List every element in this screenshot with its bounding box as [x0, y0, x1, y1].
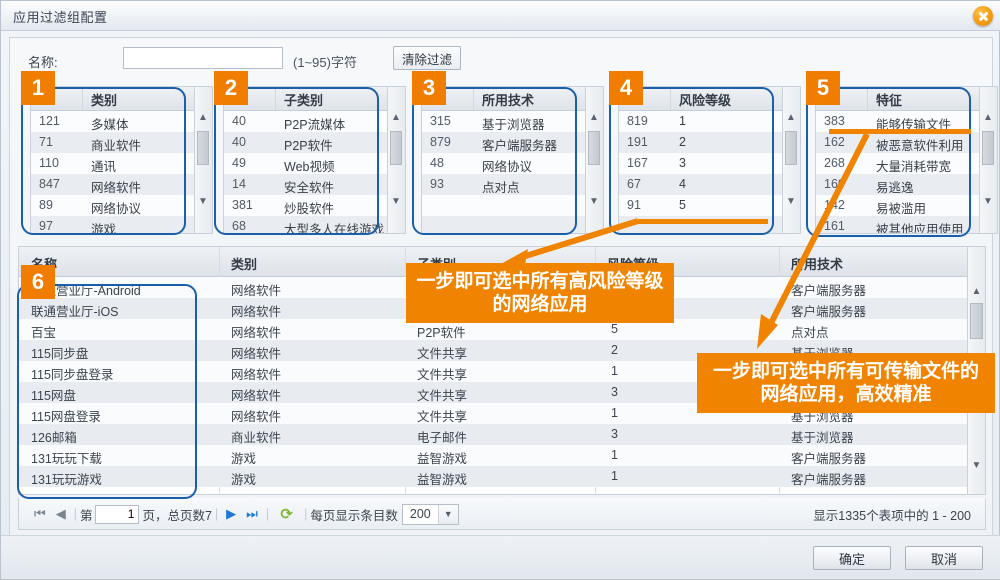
badge-2: 2 — [214, 71, 248, 105]
item-count: 161 — [824, 219, 868, 233]
cell-risk: 1 — [611, 406, 618, 420]
item-label: 游戏 — [91, 219, 116, 234]
cell-category: 网络软件 — [231, 385, 281, 404]
selector-header-1: 类别 — [31, 87, 194, 111]
item-count: 383 — [824, 114, 868, 128]
item-label: 网络协议 — [91, 198, 141, 217]
item-label: 1 — [679, 114, 686, 128]
badge-1: 1 — [21, 71, 55, 105]
selector-scrollbar-3[interactable]: ▲▼ — [586, 86, 604, 234]
selector-list-1[interactable]: 121多媒体71商业软件110通讯847网络软件89网络协议97游戏 — [31, 111, 194, 234]
item-label: 通讯 — [91, 156, 116, 175]
list-item[interactable]: 71商业软件 — [31, 132, 194, 153]
badge-5: 5 — [806, 71, 840, 105]
list-item[interactable]: 268大量消耗带宽 — [816, 153, 979, 174]
cell-subcategory: P2P软件 — [417, 322, 466, 341]
selector-header-3: 所用技术 — [422, 87, 585, 111]
close-icon[interactable] — [973, 6, 993, 26]
scroll-up-icon[interactable]: ▲ — [980, 109, 996, 125]
scroll-up-icon[interactable]: ▲ — [783, 109, 799, 125]
list-item[interactable]: 121多媒体 — [31, 111, 194, 132]
window-title: 应用过滤组配置 — [13, 7, 108, 26]
badge-4: 4 — [609, 71, 643, 105]
list-item[interactable]: 8191 — [619, 111, 782, 132]
item-count: 91 — [627, 198, 671, 212]
cell-risk: 3 — [611, 427, 618, 441]
scrollbar-thumb[interactable] — [588, 131, 600, 165]
cell-name: 联通营业厅-iOS — [31, 301, 119, 320]
first-page-icon[interactable]: ⏮ — [29, 506, 51, 522]
list-item[interactable] — [422, 195, 585, 216]
list-item[interactable]: 674 — [619, 174, 782, 195]
item-label: 多媒体 — [91, 114, 129, 133]
item-count: 89 — [39, 198, 83, 212]
chevron-down-icon[interactable]: ▼ — [438, 505, 458, 524]
scroll-down-icon[interactable]: ▼ — [195, 193, 211, 209]
scroll-up-icon[interactable]: ▲ — [586, 109, 602, 125]
cell-category: 网络软件 — [231, 343, 281, 362]
item-label: P2P软件 — [284, 135, 333, 154]
list-item[interactable]: 1673 — [619, 153, 782, 174]
cell-category: 网络软件 — [231, 322, 281, 341]
item-label: Web视频 — [284, 156, 334, 175]
name-input[interactable] — [123, 47, 283, 69]
list-item[interactable]: 89网络协议 — [31, 195, 194, 216]
selector-title: 子类别 — [284, 90, 323, 109]
item-count: 847 — [39, 177, 83, 191]
scroll-down-icon[interactable]: ▼ — [586, 193, 602, 209]
per-page-value: 200 — [403, 507, 438, 521]
column-header-tech[interactable]: 所用技术 — [791, 254, 843, 273]
item-label: 5 — [679, 198, 686, 212]
list-item[interactable]: 49Web视频 — [224, 153, 387, 174]
callout-feature: 一步即可选中所有可传输文件的网络应用，高效精准 — [697, 353, 995, 413]
selector-scrollbar-1[interactable]: ▲▼ — [195, 86, 213, 234]
cell-subcategory: 文件共享 — [417, 385, 467, 404]
item-label: 被其他应用使用 — [876, 219, 964, 234]
scroll-down-icon[interactable]: ▼ — [968, 457, 985, 474]
item-count: 162 — [824, 135, 868, 149]
last-page-icon[interactable]: ⏭ — [241, 506, 263, 522]
cell-risk: 2 — [611, 343, 618, 357]
cell-risk: 1 — [611, 469, 618, 483]
item-count: 142 — [824, 198, 868, 212]
selector-title: 特征 — [876, 90, 902, 109]
table-row[interactable]: 131玩玩下载游戏益智游戏1客户端服务器 — [19, 445, 985, 466]
cell-subcategory: 文件共享 — [417, 343, 467, 362]
item-count: 160 — [824, 177, 868, 191]
cell-category: 商业软件 — [231, 427, 281, 446]
item-label: 炒股软件 — [284, 198, 334, 217]
item-count: 93 — [430, 177, 474, 191]
cell-subcategory: 益智游戏 — [417, 448, 467, 467]
highlight-underline-feature-1 — [829, 129, 971, 134]
cell-tech: 客户端服务器 — [791, 280, 866, 299]
item-count: 97 — [39, 219, 83, 233]
previous-page-icon[interactable]: ◀ — [51, 506, 71, 522]
selector-panel-1: 类别121多媒体71商业软件110通讯847网络软件89网络协议97游戏 — [30, 86, 195, 234]
cell-category: 网络软件 — [231, 364, 281, 383]
selector-panel-4: 风险等级819119121673674915 — [618, 86, 783, 234]
cell-risk: 1 — [611, 364, 618, 378]
per-page-label: 每页显示条目数 — [310, 505, 398, 524]
selector-header-2: 子类别 — [224, 87, 387, 111]
refresh-icon[interactable]: ⟳ — [278, 506, 295, 523]
cell-tech: 客户端服务器 — [791, 469, 866, 488]
list-item[interactable]: 93点对点 — [422, 174, 585, 195]
column-header-category[interactable]: 类别 — [231, 254, 257, 273]
selector-panel-3: 所用技术315基于浏览器879客户端服务器48网络协议93点对点 — [421, 86, 586, 234]
selector-header-5: 特征 — [816, 87, 979, 111]
item-count: 40 — [232, 135, 276, 149]
scrollbar-thumb[interactable] — [785, 131, 797, 165]
item-label: 网络软件 — [91, 177, 141, 196]
cell-category: 网络软件 — [231, 406, 281, 425]
item-count: 48 — [430, 156, 474, 170]
ok-button[interactable]: 确定 — [813, 546, 891, 570]
page-prefix-label: 第 — [80, 505, 93, 524]
item-label: 商业软件 — [91, 135, 141, 154]
page-number-input[interactable] — [95, 505, 139, 524]
cell-subcategory: 文件共享 — [417, 364, 467, 383]
list-item[interactable]: 160易逃逸 — [816, 174, 979, 195]
item-count: 819 — [627, 114, 671, 128]
cell-risk: 3 — [611, 385, 618, 399]
badge-3: 3 — [412, 71, 446, 105]
highlight-underline-risk-5 — [638, 219, 768, 224]
list-item[interactable]: 68大型多人在线游戏 — [224, 216, 387, 234]
list-item[interactable]: 879客户端服务器 — [422, 132, 585, 153]
selector-header-4: 风险等级 — [619, 87, 782, 111]
cell-category: 网络软件 — [231, 280, 281, 299]
record-status-label: 显示1335个表项中的 1 - 200 — [813, 498, 971, 530]
item-count: 315 — [430, 114, 474, 128]
list-item[interactable]: 97游戏 — [31, 216, 194, 234]
item-label: 大型多人在线游戏 — [284, 219, 384, 234]
per-page-select[interactable]: 200 ▼ — [402, 504, 459, 525]
pagination-bar: ⏮ ◀ | 第 页，总页数7 | ▶ ⏭ | ⟳ | 每页显示条目数 200 ▼… — [18, 498, 986, 530]
item-count: 40 — [232, 114, 276, 128]
selector-list-2[interactable]: 40P2P流媒体40P2P软件49Web视频14安全软件381炒股软件68大型多… — [224, 111, 387, 234]
list-item[interactable]: 142易被滥用 — [816, 195, 979, 216]
cell-risk: 1 — [611, 448, 618, 462]
scroll-down-icon[interactable]: ▼ — [980, 193, 996, 209]
list-item[interactable]: 915 — [619, 195, 782, 216]
callout-risk: 一步即可选中所有高风险等级的网络应用 — [406, 263, 674, 323]
item-count: 14 — [232, 177, 276, 191]
item-count: 49 — [232, 156, 276, 170]
item-label: 易逃逸 — [876, 177, 914, 196]
item-count: 167 — [627, 156, 671, 170]
name-label: 名称: — [28, 52, 58, 71]
scroll-down-icon[interactable]: ▼ — [388, 193, 404, 209]
list-item[interactable]: 48网络协议 — [422, 153, 585, 174]
item-count: 68 — [232, 219, 276, 233]
list-item[interactable]: 381炒股软件 — [224, 195, 387, 216]
item-label: 大量消耗带宽 — [876, 156, 951, 175]
item-count: 67 — [627, 177, 671, 191]
title-bar: 应用过滤组配置 — [1, 1, 1000, 31]
cell-subcategory: 电子邮件 — [417, 427, 467, 446]
cell-category: 游戏 — [231, 469, 256, 488]
selector-list-4[interactable]: 819119121673674915 — [619, 111, 782, 234]
list-item[interactable] — [422, 216, 585, 234]
selector-panel-2: 子类别40P2P流媒体40P2P软件49Web视频14安全软件381炒股软件68… — [223, 86, 388, 234]
item-label: 点对点 — [482, 177, 520, 196]
char-hint-label: (1~95)字符 — [293, 52, 357, 71]
clear-filter-button[interactable]: 清除过滤 — [393, 46, 461, 70]
item-count: 191 — [627, 135, 671, 149]
list-item[interactable]: 1912 — [619, 132, 782, 153]
cell-tech: 点对点 — [791, 322, 829, 341]
scroll-up-icon[interactable]: ▲ — [968, 283, 985, 300]
page-suffix-label: 页，总页数7 — [142, 505, 211, 524]
list-item[interactable]: 40P2P软件 — [224, 132, 387, 153]
list-item[interactable]: 40P2P流媒体 — [224, 111, 387, 132]
cell-name: 115网盘 — [31, 385, 76, 404]
scroll-down-icon[interactable]: ▼ — [783, 193, 799, 209]
cancel-button[interactable]: 取消 — [905, 546, 983, 570]
scrollbar-thumb[interactable] — [197, 131, 209, 165]
table-row[interactable]: 126邮箱商业软件电子邮件3基于浏览器 — [19, 424, 985, 445]
cell-name: 131玩玩游戏 — [31, 469, 102, 488]
item-label: P2P流媒体 — [284, 114, 345, 133]
item-label: 网络协议 — [482, 156, 532, 175]
list-item[interactable]: 162被恶意软件利用 — [816, 132, 979, 153]
list-item[interactable]: 14安全软件 — [224, 174, 387, 195]
item-count: 121 — [39, 114, 83, 128]
list-item[interactable]: 847网络软件 — [31, 174, 194, 195]
scrollbar-thumb[interactable] — [390, 131, 402, 165]
list-item[interactable]: 110通讯 — [31, 153, 194, 174]
scrollbar-thumb[interactable] — [982, 131, 994, 165]
scroll-up-icon[interactable]: ▲ — [195, 109, 211, 125]
selector-title: 风险等级 — [679, 90, 731, 109]
selector-title: 所用技术 — [482, 90, 534, 109]
item-label: 3 — [679, 156, 686, 170]
cell-risk: 5 — [611, 322, 618, 336]
selector-scrollbar-4[interactable]: ▲▼ — [783, 86, 801, 234]
cell-tech: 客户端服务器 — [791, 448, 866, 467]
item-count: 110 — [39, 156, 83, 170]
item-label: 基于浏览器 — [482, 114, 545, 133]
selector-list-3[interactable]: 315基于浏览器879客户端服务器48网络协议93点对点 — [422, 111, 585, 234]
cell-tech: 客户端服务器 — [791, 301, 866, 320]
item-label: 客户端服务器 — [482, 135, 557, 154]
item-label: 4 — [679, 177, 686, 191]
cell-name: 115同步盘登录 — [31, 364, 113, 383]
selector-title: 类别 — [91, 90, 117, 109]
cell-subcategory: 益智游戏 — [417, 469, 467, 488]
item-count: 71 — [39, 135, 83, 149]
next-page-icon[interactable]: ▶ — [221, 506, 241, 522]
item-label: 被恶意软件利用 — [876, 135, 964, 154]
cell-name: 131玩玩下载 — [31, 448, 102, 467]
item-label: 2 — [679, 135, 686, 149]
cell-tech: 基于浏览器 — [791, 427, 854, 446]
scrollbar-thumb[interactable] — [970, 303, 983, 339]
cell-name: 115同步盘 — [31, 343, 88, 362]
selector-scrollbar-5[interactable]: ▲▼ — [980, 86, 998, 234]
cell-name: 百宝 — [31, 322, 56, 341]
item-count: 381 — [232, 198, 276, 212]
app-window: 应用过滤组配置 名称: (1~95)字符 清除过滤 类别121多媒体71商业软件… — [0, 0, 1000, 580]
list-item[interactable]: 315基于浏览器 — [422, 111, 585, 132]
dialog-footer: 确定 取消 — [1, 535, 1000, 579]
item-label: 安全软件 — [284, 177, 334, 196]
scroll-up-icon[interactable]: ▲ — [388, 109, 404, 125]
item-count: 268 — [824, 156, 868, 170]
list-item[interactable]: 161被其他应用使用 — [816, 216, 979, 234]
item-count: 879 — [430, 135, 474, 149]
cell-category: 网络软件 — [231, 301, 281, 320]
cell-name: 126邮箱 — [31, 427, 77, 446]
badge-6: 6 — [21, 265, 55, 299]
cell-category: 游戏 — [231, 448, 256, 467]
selector-panel-5: 特征383能够传输文件162被恶意软件利用268大量消耗带宽160易逃逸142易… — [815, 86, 980, 234]
table-row[interactable]: 131玩玩游戏游戏益智游戏1客户端服务器 — [19, 466, 985, 487]
cell-name: 115网盘登录 — [31, 406, 101, 425]
cell-subcategory: 文件共享 — [417, 406, 467, 425]
selector-scrollbar-2[interactable]: ▲▼ — [388, 86, 406, 234]
item-label: 易被滥用 — [876, 198, 926, 217]
